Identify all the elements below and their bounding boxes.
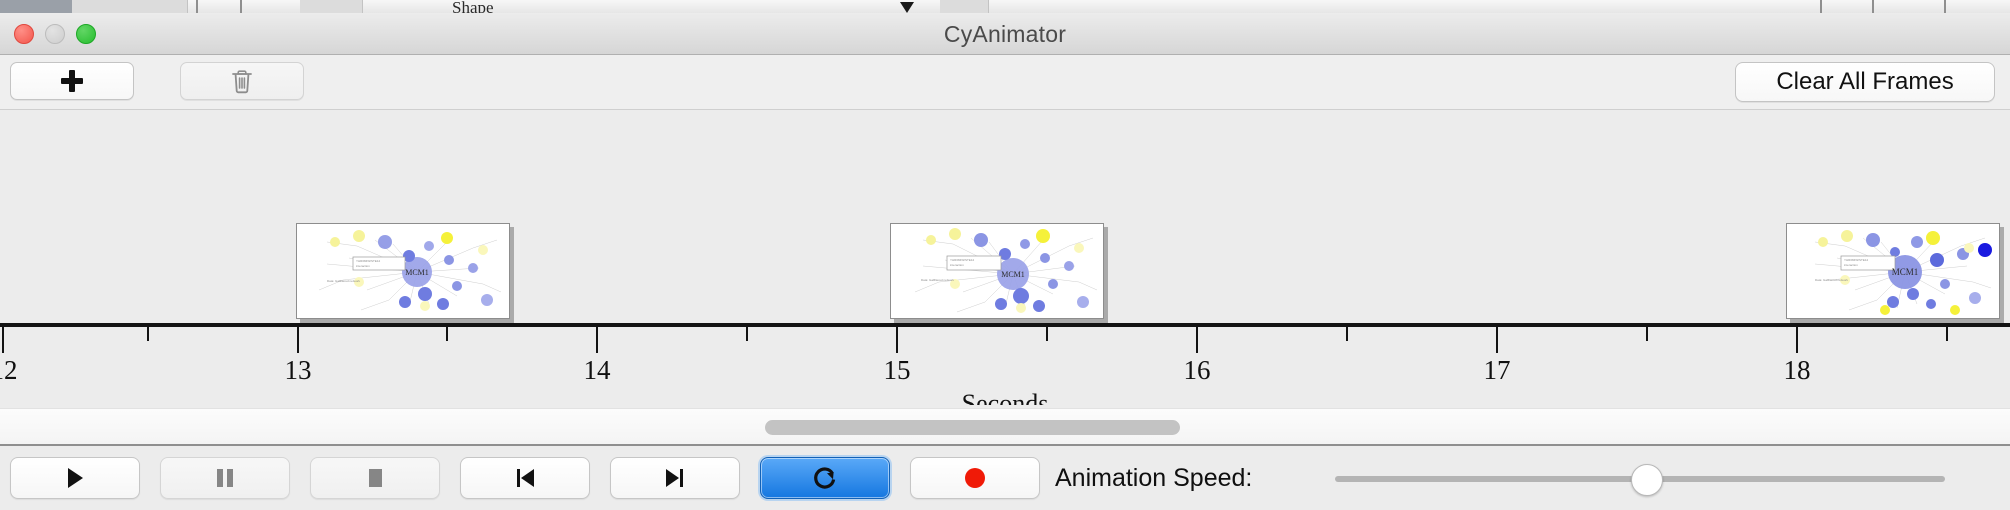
ruler-tick-minor [1046,327,1048,341]
animation-speed-slider[interactable] [1335,457,1945,499]
play-icon [62,465,88,491]
ruler-label: 14 [584,355,611,386]
playback-toolbar: Animation Speed: [0,448,2010,510]
background-caret-icon [900,2,914,13]
ruler-tick-major [2,327,4,353]
timeline-frame-1[interactable]: YHR084W/STE12 interaction Data: Galfilte… [296,223,514,323]
play-button[interactable] [10,457,140,499]
background-tab-1 [72,0,188,13]
ruler-tick-major [596,327,598,353]
svg-text:interaction: interaction [950,263,964,267]
frame-thumbnail: YHR084W/STE12 interaction Data: Galfilte… [890,223,1104,319]
ruler-label: 12 [0,355,18,386]
slider-thumb[interactable] [1631,464,1663,496]
plus-icon [59,68,85,94]
ruler-tick-major [1496,327,1498,353]
stop-icon [363,465,387,491]
background-tab-2 [300,0,363,13]
svg-text:Data: Galfiltered network: Data: Galfiltered network [1815,278,1849,282]
ruler-label: 15 [884,355,911,386]
animation-speed-label: Animation Speed: [1055,457,1252,499]
ruler-tick-minor [1346,327,1348,341]
loop-icon [811,464,839,492]
hub-node-label: MCM1 [1892,267,1919,277]
pause-button[interactable] [160,457,290,499]
timeline-horizontal-scrollbar[interactable] [0,408,2010,446]
timeline-ruler[interactable]: 12 13 14 15 16 17 18 Seconds [0,323,2010,405]
skip-forward-icon [662,465,688,491]
background-tab-dark [0,0,73,13]
background-notch-3 [1820,0,1822,13]
hub-node-label: MCM1 [405,268,429,277]
background-notch-2 [240,0,242,13]
ruler-tick-minor [1946,327,1948,341]
ruler-label: 18 [1784,355,1811,386]
svg-text:YHR084W/STE12: YHR084W/STE12 [356,259,381,263]
record-button[interactable] [910,457,1040,499]
svg-text:interaction: interaction [356,264,370,268]
background-tab-3 [940,0,989,13]
frames-toolbar: Clear All Frames [0,55,2010,110]
timeline-frame-3[interactable]: YHR084W/STE12 interaction Data: Galfilte… [1786,223,2004,323]
title-bar[interactable]: CyAnimator [0,13,2010,55]
ruler-tick-minor [446,327,448,341]
ruler-label: 17 [1484,355,1511,386]
frame-thumbnail: YHR084W/STE12 interaction Data: Galfilte… [296,223,510,319]
ruler-axis-line [0,323,2010,327]
svg-text:YHR084W/STE12: YHR084W/STE12 [950,258,975,262]
ruler-tick-minor [147,327,149,341]
next-button[interactable] [610,457,740,499]
stop-button[interactable] [310,457,440,499]
window-title: CyAnimator [0,13,2010,55]
pause-icon [213,465,237,491]
background-notch-5 [1944,0,1946,13]
background-window-strip: Shape [0,0,2010,14]
ruler-tick-major [297,327,299,353]
svg-text:interaction: interaction [1844,263,1858,267]
cyanimator-window: Shape CyAnimator Clear All Frames [0,0,2010,510]
hub-node-label: MCM1 [1001,270,1025,279]
skip-back-icon [512,465,538,491]
svg-text:Data: Galfiltered network: Data: Galfiltered network [921,278,955,282]
timeline-panel[interactable]: YHR084W/STE12 interaction Data: Galfilte… [0,110,2010,405]
scrollbar-thumb[interactable] [765,420,1180,435]
ruler-tick-major [1796,327,1798,353]
delete-frame-button[interactable] [180,62,304,100]
clear-all-frames-button[interactable]: Clear All Frames [1735,62,1995,102]
previous-button[interactable] [460,457,590,499]
timeline-frame-2[interactable]: YHR084W/STE12 interaction Data: Galfilte… [890,223,1108,323]
frame-thumbnail: YHR084W/STE12 interaction Data: Galfilte… [1786,223,2000,319]
svg-text:YHR084W/STE12: YHR084W/STE12 [1844,258,1869,262]
loop-button[interactable] [760,457,890,499]
record-icon [963,466,987,490]
ruler-label: 16 [1184,355,1211,386]
svg-text:Data: Galfiltered network: Data: Galfiltered network [327,279,361,283]
ruler-tick-major [1196,327,1198,353]
ruler-label: 13 [285,355,312,386]
background-notch-4 [1872,0,1874,13]
ruler-tick-major [896,327,898,353]
ruler-axis-title: Seconds [0,389,2010,405]
trash-icon [230,68,254,94]
background-notch-1 [196,0,198,13]
ruler-tick-minor [746,327,748,341]
add-frame-button[interactable] [10,62,134,100]
ruler-tick-minor [1646,327,1648,341]
